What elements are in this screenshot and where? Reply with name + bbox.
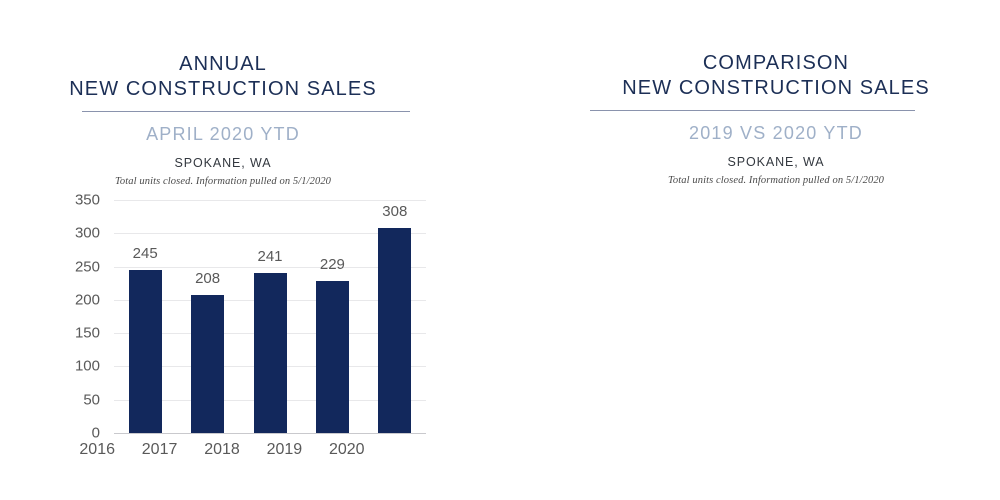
bar-value-label: 241 — [242, 248, 299, 265]
bar — [191, 295, 224, 433]
subtitle-annual: APRIL 2020 YTD — [0, 124, 500, 145]
panel-annual: ANNUAL NEW CONSTRUCTION SALES APRIL 2020… — [0, 0, 500, 500]
bar — [316, 281, 349, 433]
bar — [378, 228, 411, 433]
x-axis-baseline — [114, 433, 426, 434]
plot-area-annual: 245208241229308 — [114, 200, 426, 434]
source-note-comparison: Total units closed. Information pulled o… — [500, 175, 1000, 186]
title-line-2: NEW CONSTRUCTION SALES — [552, 76, 1000, 101]
subtitle-comparison: 2019 VS 2020 YTD — [500, 123, 1000, 144]
x-axis-category-label: 2020 — [304, 440, 390, 460]
page-title-comparison: COMPARISON NEW CONSTRUCTION SALES — [500, 51, 1000, 101]
source-note-annual: Total units closed. Information pulled o… — [0, 176, 500, 187]
infographic-page: ANNUAL NEW CONSTRUCTION SALES APRIL 2020… — [0, 0, 1000, 500]
bar — [129, 270, 162, 433]
chart-annual-new-construction-sales: 050100150200250300350 245208241229308 20… — [66, 200, 426, 440]
y-axis-tick-label: 0 — [92, 425, 100, 442]
bar-value-label: 308 — [366, 203, 423, 220]
header-comparison: COMPARISON NEW CONSTRUCTION SALES 2019 V… — [500, 51, 1000, 186]
title-divider — [82, 111, 410, 112]
page-title-annual: ANNUAL NEW CONSTRUCTION SALES — [0, 52, 500, 102]
bar-value-label: 208 — [179, 270, 236, 287]
y-axis-annual: 050100150200250300350 — [64, 200, 108, 434]
panel-comparison: COMPARISON NEW CONSTRUCTION SALES 2019 V… — [500, 0, 1000, 500]
y-axis-tick-label: 300 — [75, 225, 100, 242]
bar — [254, 273, 287, 433]
bar-value-label: 229 — [304, 256, 361, 273]
title-divider — [590, 110, 915, 111]
y-axis-tick-label: 50 — [83, 391, 100, 408]
y-axis-tick-label: 350 — [75, 192, 100, 209]
city-label-annual: SPOKANE, WA — [0, 156, 500, 170]
city-label-comparison: SPOKANE, WA — [500, 155, 1000, 169]
header-annual: ANNUAL NEW CONSTRUCTION SALES APRIL 2020… — [0, 52, 500, 187]
gridline — [114, 200, 426, 201]
y-axis-tick-label: 100 — [75, 358, 100, 375]
title-line-2: NEW CONSTRUCTION SALES — [0, 77, 446, 102]
y-axis-tick-label: 200 — [75, 291, 100, 308]
y-axis-tick-label: 250 — [75, 258, 100, 275]
title-line-1: COMPARISON — [703, 52, 849, 74]
bar-value-label: 245 — [117, 245, 174, 262]
title-line-1: ANNUAL — [179, 53, 267, 75]
y-axis-tick-label: 150 — [75, 325, 100, 342]
